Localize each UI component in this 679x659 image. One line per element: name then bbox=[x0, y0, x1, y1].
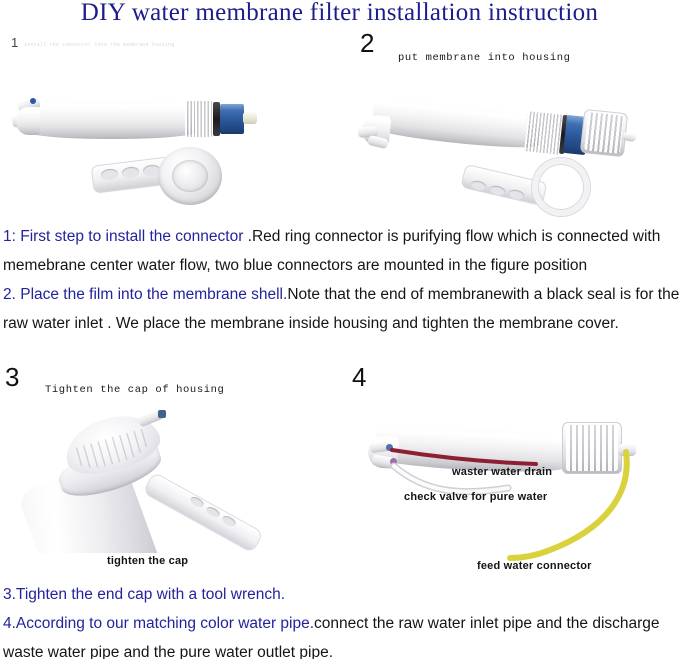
instruction-2-blue: 2. Place the film into the membrane shel… bbox=[3, 286, 287, 303]
step-1-number: 1 bbox=[11, 35, 18, 50]
figure-4-label-feed-water: feed water connector bbox=[477, 560, 592, 572]
figure-step-3 bbox=[0, 398, 330, 553]
step-4-number: 4 bbox=[352, 362, 366, 393]
figure-4-label-check-valve: check valve for pure water bbox=[404, 491, 547, 503]
step-3-caption: Tighten the cap of housing bbox=[45, 384, 224, 396]
figure-4-label-waste-water: waster water drain bbox=[452, 466, 552, 478]
figure-step-2 bbox=[350, 85, 679, 220]
instructions-top: 1: First step to install the connector .… bbox=[3, 222, 679, 338]
feed-water-tube-icon bbox=[350, 400, 679, 570]
step-2-caption: put membrane into housing bbox=[398, 52, 571, 64]
instruction-4-blue: 4.According to our matching color water … bbox=[3, 615, 314, 632]
step-3-number: 3 bbox=[5, 362, 19, 393]
step-2-number: 2 bbox=[360, 28, 374, 59]
instruction-sheet: DIY water membrane filter installation i… bbox=[0, 0, 679, 659]
figure-step-4 bbox=[350, 400, 679, 570]
instruction-paragraph-4: 4.According to our matching color water … bbox=[3, 609, 679, 659]
instruction-paragraph-2: 2. Place the film into the membrane shel… bbox=[3, 280, 679, 338]
instruction-3-blue: 3.Tighten the end cap with a tool wrench… bbox=[3, 586, 285, 603]
step-1-caption: install the connector into the membrane … bbox=[24, 42, 174, 48]
instruction-paragraph-1: 1: First step to install the connector .… bbox=[3, 222, 679, 280]
instruction-1-blue: 1: First step to install the connector bbox=[3, 228, 248, 245]
instructions-bottom: 3.Tighten the end cap with a tool wrench… bbox=[3, 580, 679, 659]
instruction-paragraph-3: 3.Tighten the end cap with a tool wrench… bbox=[3, 580, 679, 609]
page-title: DIY water membrane filter installation i… bbox=[0, 0, 679, 27]
figure-3-label: tighten the cap bbox=[107, 555, 188, 567]
figure-step-1 bbox=[0, 85, 280, 220]
